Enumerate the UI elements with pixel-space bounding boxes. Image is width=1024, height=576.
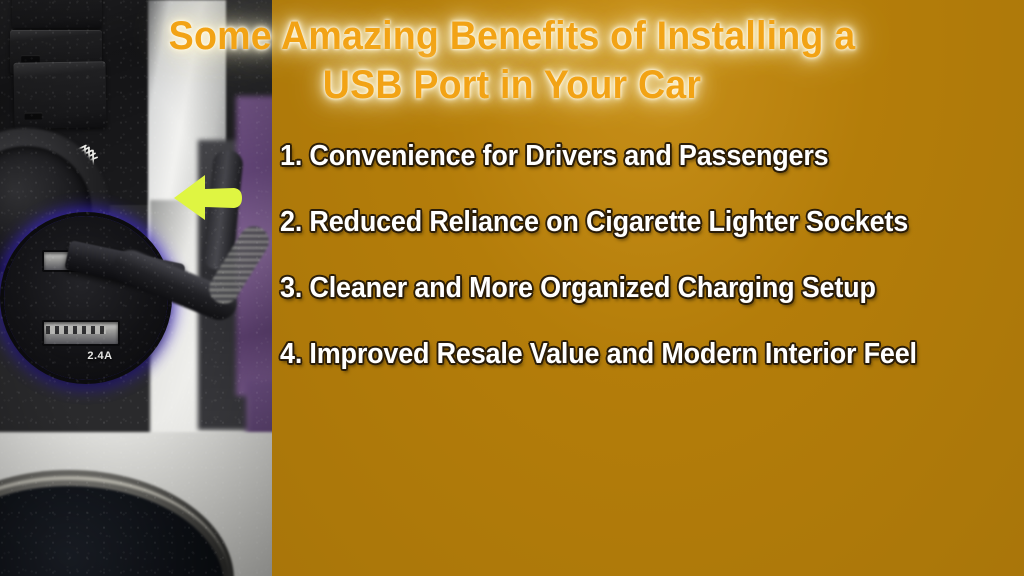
title-line-2: USB Port in Your Car — [31, 61, 994, 110]
page-title: Some Amazing Benefits of Installing a US… — [31, 12, 994, 110]
benefit-item-3: 3. Cleaner and More Organized Charging S… — [280, 266, 970, 310]
infographic-canvas: ▭ 2.4A — [0, 0, 1024, 576]
window-icon: ▭ — [58, 0, 74, 3]
switch-notch-lower — [24, 112, 42, 119]
charger-amperage-label: 2.4A — [60, 350, 140, 362]
yellow-pointer-arrow — [172, 172, 244, 222]
title-line-1: Some Amazing Benefits of Installing a — [31, 12, 994, 61]
benefit-item-1: 1. Convenience for Drivers and Passenger… — [280, 134, 970, 178]
benefit-item-2: 2. Reduced Reliance on Cigarette Lighter… — [280, 200, 970, 244]
benefit-item-4: 4. Improved Resale Value and Modern Inte… — [280, 332, 970, 376]
usb-port-contacts — [46, 326, 106, 334]
benefits-list: 1. Convenience for Drivers and Passenger… — [280, 134, 1022, 574]
